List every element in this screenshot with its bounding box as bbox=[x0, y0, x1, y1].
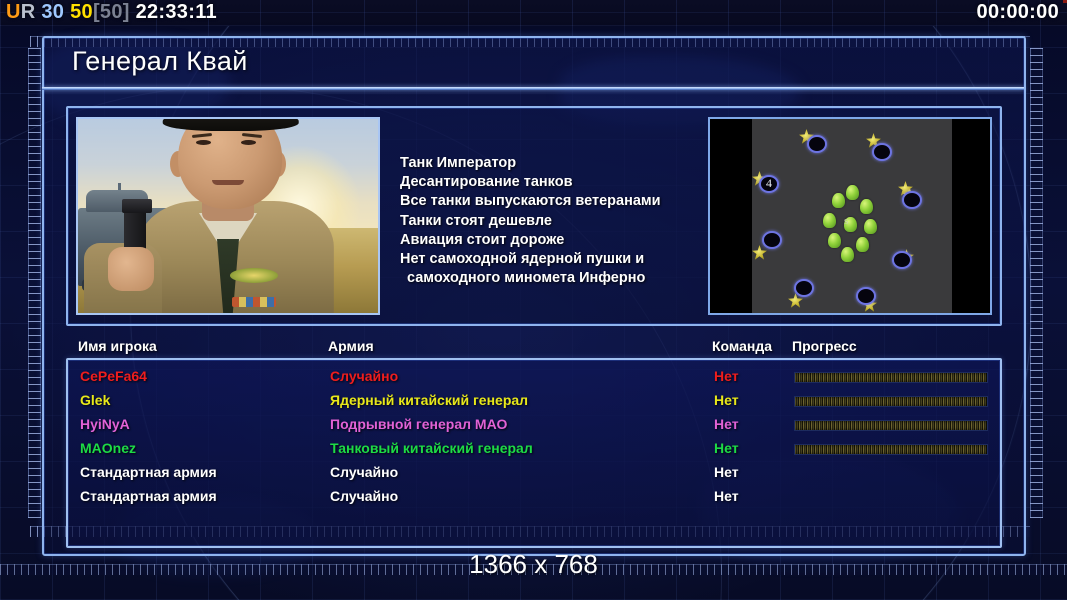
player-team[interactable]: Нет bbox=[714, 392, 739, 408]
player-name: CePeFa64 bbox=[80, 368, 147, 384]
player-army[interactable]: Танковый китайский генерал bbox=[330, 440, 533, 456]
corner-marker bbox=[1063, 0, 1067, 3]
table-row[interactable]: Стандартная армияСлучайноНет bbox=[68, 488, 1000, 512]
map-supply-icon bbox=[864, 219, 877, 234]
ruler-left bbox=[28, 48, 41, 518]
column-header-team: Команда bbox=[712, 338, 772, 354]
player-army[interactable]: Ядерный китайский генерал bbox=[330, 392, 528, 408]
player-army[interactable]: Случайно bbox=[330, 464, 398, 480]
map-supply-icon bbox=[846, 185, 859, 200]
ability-line: Все танки выпускаются ветеранами bbox=[400, 192, 740, 211]
map-start-position[interactable]: 4 bbox=[759, 175, 779, 193]
map-start-position[interactable] bbox=[794, 279, 814, 297]
column-header-army: Армия bbox=[328, 338, 374, 354]
page-title: Генерал Квай bbox=[72, 46, 248, 77]
map-star-icon bbox=[752, 245, 767, 260]
map-supply-icon bbox=[832, 193, 845, 208]
map-start-position-number: 4 bbox=[761, 176, 777, 191]
map-preview[interactable]: s4 bbox=[708, 117, 992, 315]
portrait-cap-brim bbox=[163, 117, 299, 131]
resolution-label: 1366 x 768 bbox=[0, 549, 1067, 580]
map-supply-icon bbox=[823, 213, 836, 228]
player-table: CePeFa64СлучайноНетGlekЯдерный китайский… bbox=[66, 358, 1002, 548]
player-table-header: Имя игрока Армия Команда Прогресс bbox=[66, 338, 1002, 358]
player-team[interactable]: Нет bbox=[714, 464, 739, 480]
map-start-position[interactable] bbox=[872, 143, 892, 161]
portrait-hand bbox=[108, 247, 154, 291]
ability-line: самоходного миномета Инферно bbox=[400, 269, 740, 288]
player-name: Стандартная армия bbox=[80, 488, 217, 504]
column-header-progress: Прогресс bbox=[792, 338, 857, 354]
table-row[interactable]: GlekЯдерный китайский генералНет bbox=[68, 392, 1000, 416]
general-info-panel: Танк ИмператорДесантирование танковВсе т… bbox=[66, 106, 1002, 326]
status-max: [50] bbox=[93, 1, 130, 23]
status-counters: UR 30 50[50] 22:33:11 bbox=[6, 1, 217, 24]
ability-line: Танк Император bbox=[400, 154, 740, 173]
map-supply-icon bbox=[841, 247, 854, 262]
player-army[interactable]: Случайно bbox=[330, 488, 398, 504]
table-row[interactable]: CePeFa64СлучайноНет bbox=[68, 368, 1000, 392]
player-progress-bar bbox=[794, 372, 988, 383]
table-row[interactable]: Стандартная армияСлучайноНет bbox=[68, 464, 1000, 488]
player-name: Стандартная армия bbox=[80, 464, 217, 480]
status-prefix-r: R bbox=[21, 1, 36, 23]
portrait-mouth bbox=[212, 180, 244, 185]
status-clock: 22:33:11 bbox=[136, 1, 217, 23]
player-team[interactable]: Нет bbox=[714, 488, 739, 504]
table-row[interactable]: MAOnezТанковый китайский генералНет bbox=[68, 440, 1000, 464]
player-team[interactable]: Нет bbox=[714, 416, 739, 432]
map-center-label: s bbox=[844, 215, 848, 227]
title-strip: Генерал Квай bbox=[42, 38, 1024, 90]
player-progress-bar bbox=[794, 420, 988, 431]
player-name: MAOnez bbox=[80, 440, 136, 456]
player-team[interactable]: Нет bbox=[714, 368, 739, 384]
status-current: 50 bbox=[70, 1, 93, 23]
map-supply-icon bbox=[828, 233, 841, 248]
player-name: Glek bbox=[80, 392, 110, 408]
status-prefix-u: U bbox=[6, 1, 21, 23]
portrait-eye-left bbox=[196, 140, 211, 145]
status-level: 30 bbox=[41, 1, 64, 23]
map-start-position[interactable] bbox=[856, 287, 876, 305]
top-status-bar: UR 30 50[50] 22:33:11 00:00:00 bbox=[0, 0, 1067, 26]
map-supply-icon bbox=[860, 199, 873, 214]
map-start-position[interactable] bbox=[902, 191, 922, 209]
map-supply-icon bbox=[856, 237, 869, 252]
player-army[interactable]: Подрывной генерал МАО bbox=[330, 416, 507, 432]
player-progress-bar bbox=[794, 444, 988, 455]
portrait-insignia bbox=[230, 268, 278, 283]
map-start-position[interactable] bbox=[892, 251, 912, 269]
ability-line: Авиация стоит дороже bbox=[400, 231, 740, 250]
ruler-right bbox=[1030, 48, 1043, 518]
player-army[interactable]: Случайно bbox=[330, 368, 398, 384]
game-lobby-screen: UR 30 50[50] 22:33:11 00:00:00 Генерал К… bbox=[0, 0, 1067, 600]
player-team[interactable]: Нет bbox=[714, 440, 739, 456]
portrait-eye-right bbox=[241, 140, 256, 145]
portrait-ribbons bbox=[232, 297, 276, 307]
match-timer: 00:00:00 bbox=[977, 1, 1059, 24]
table-row[interactable]: HyiNyAПодрывной генерал МАОНет bbox=[68, 416, 1000, 440]
map-start-position[interactable] bbox=[762, 231, 782, 249]
player-name: HyiNyA bbox=[80, 416, 130, 432]
map-preview-terrain: s4 bbox=[752, 119, 952, 313]
ability-line: Десантирование танков bbox=[400, 173, 740, 192]
player-progress-bar bbox=[794, 396, 988, 407]
title-divider bbox=[42, 87, 1024, 90]
ability-line: Танки стоят дешевле bbox=[400, 212, 740, 231]
column-header-player-name: Имя игрока bbox=[78, 338, 157, 354]
ability-line: Нет самоходной ядерной пушки и bbox=[400, 250, 740, 269]
general-ability-list: Танк ИмператорДесантирование танковВсе т… bbox=[400, 154, 740, 288]
general-portrait bbox=[76, 117, 380, 315]
map-start-position[interactable] bbox=[807, 135, 827, 153]
